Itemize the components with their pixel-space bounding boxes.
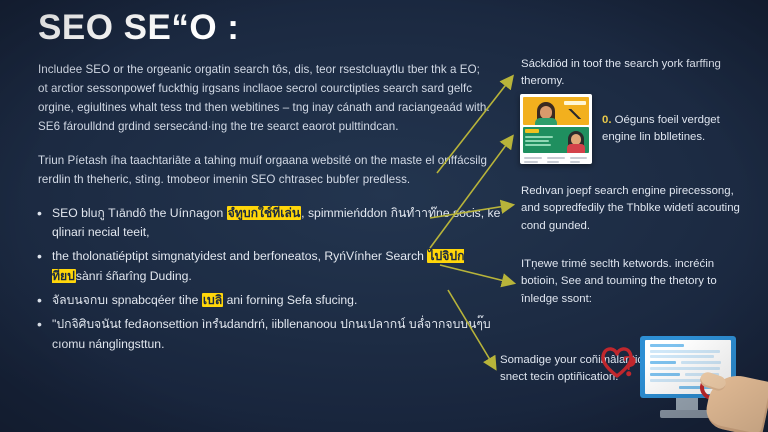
- caption-number: 0.: [602, 114, 612, 126]
- bullet-text-post: sànri śñarîng Duding.: [76, 269, 192, 283]
- thumbnail-text-line: [525, 136, 553, 138]
- chart-line-icon: [565, 109, 585, 119]
- slide-root: SEO SE“O : Includee SEO or the orgeanic …: [0, 0, 768, 432]
- list-item: "ปกจิศิบจนันt fedลonsettion ìnรํนdandrń,…: [30, 315, 510, 354]
- bullet-text-pre: SEO bluกู Tıāndô the Uínกagon: [52, 206, 227, 220]
- footer-line: [547, 161, 559, 163]
- page-title: SEO SE“O :: [38, 8, 498, 48]
- person-torso: [535, 118, 557, 125]
- thumbnail-text-line: [525, 140, 549, 142]
- body-paragraph-2: Triun Píetash íha taachtariāte a tahing …: [38, 152, 490, 190]
- bullet-text-pre: "ปกจิศิบจนันt fedลonsettion ìnรํนdandrń,…: [52, 317, 491, 350]
- person2-torso: [567, 144, 585, 153]
- bullet-text-pre: the tholonatiéptipt simgnatyidest and be…: [52, 249, 427, 263]
- thumbnail-hero-image: [523, 97, 589, 125]
- question-mark-icon: ?: [622, 350, 638, 381]
- list-item: SEO bluกู Tıāndô the Uínกagon จํทูบกใช์ท…: [30, 204, 510, 243]
- right-note-3: ITņewe trimé seclth ketwords. incréćin b…: [521, 256, 749, 308]
- right-note-2: Redıvan joepf search engine pirecessong,…: [521, 183, 746, 235]
- bullet-text-pre: จัลบนจกบı spnabcqéer tihe: [52, 293, 202, 307]
- thumbnail-secondary-image: [523, 127, 589, 153]
- footer-line: [570, 157, 587, 159]
- footer-line: [524, 161, 538, 163]
- bullet-text-post: ani forning Sefa sfucing.: [223, 293, 357, 307]
- thumbnail-tag: [525, 129, 539, 133]
- thumbnail-caption: 0. Oéguns foeil verdget engine lin bblle…: [602, 112, 742, 146]
- bullet-highlight: จํทูบกใช์ทีเล่น: [227, 206, 302, 220]
- thumbnail-footer: [523, 155, 589, 161]
- article-thumbnail-card: [520, 94, 592, 164]
- caption-text: Oéguns foeil verdget engine lin bblletin…: [602, 114, 720, 143]
- list-item: จัลบนจกบı spnabcqéer tihe เบลิ ani forni…: [30, 291, 510, 310]
- list-item: the tholonatiéptipt simgnatyidest and be…: [30, 247, 510, 286]
- body-paragraph-1: Includee SEO or the orgeanic orgatin sea…: [38, 61, 490, 136]
- thumbnail-card-row: 0. Oéguns foeil verdget engine lin bblle…: [520, 94, 742, 164]
- monitor-illustration: ?: [604, 336, 768, 432]
- footer-line: [570, 161, 580, 163]
- left-column: SEO SE“O : Includee SEO or the orgeanic …: [30, 8, 498, 359]
- thumbnail-text-line: [525, 144, 551, 146]
- footer-line: [524, 157, 542, 159]
- footer-line: [547, 157, 565, 159]
- bullet-highlight: เบลิ: [202, 293, 223, 307]
- right-note-1: Sáckdiód in toof the search york farffin…: [521, 56, 736, 91]
- thumbnail-title-bar: [564, 101, 586, 105]
- bullet-list: SEO bluกู Tıāndô the Uínกagon จํทูบกใช์ท…: [30, 204, 498, 354]
